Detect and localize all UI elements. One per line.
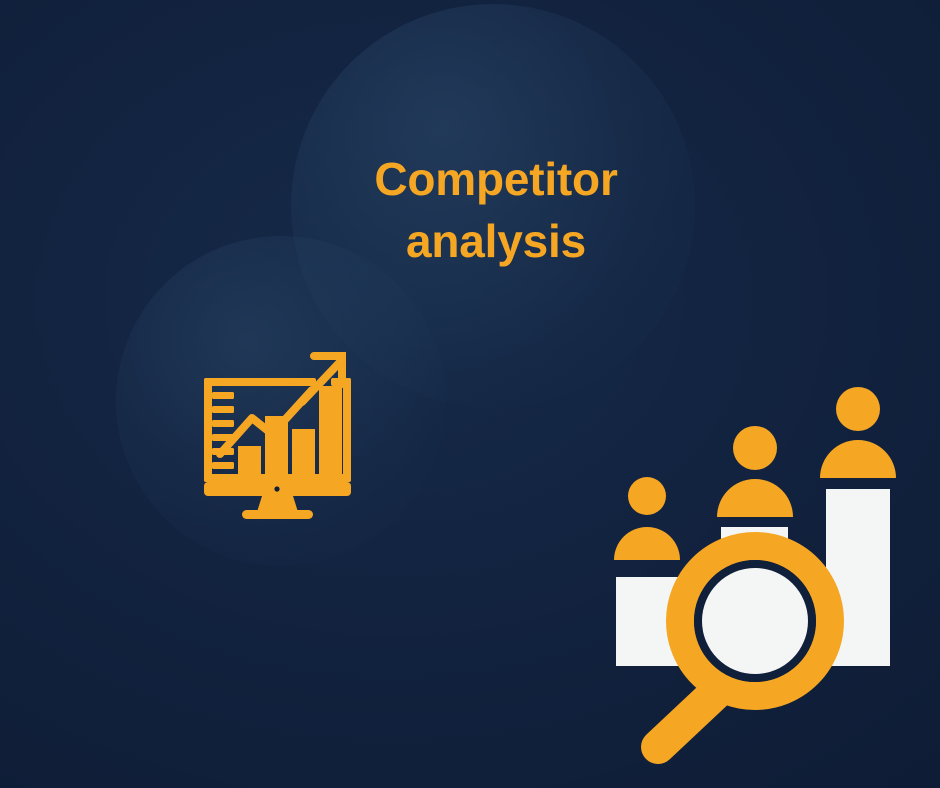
magnifying-glass-icon <box>658 536 840 747</box>
monitor-growth-chart-svg <box>190 340 365 525</box>
monitor-growth-chart-icon <box>190 340 365 525</box>
person-icon-2 <box>717 426 793 517</box>
title-line-2: analysis <box>316 210 676 272</box>
people-bar-chart-magnifier-illustration <box>600 380 910 755</box>
person-icon-1 <box>614 477 680 560</box>
title-line-1: Competitor <box>316 148 676 210</box>
poster-canvas: Competitor analysis <box>0 0 940 788</box>
people-bar-chart-svg <box>600 380 910 755</box>
page-title: Competitor analysis <box>316 148 676 272</box>
person-icon-3 <box>820 387 896 478</box>
